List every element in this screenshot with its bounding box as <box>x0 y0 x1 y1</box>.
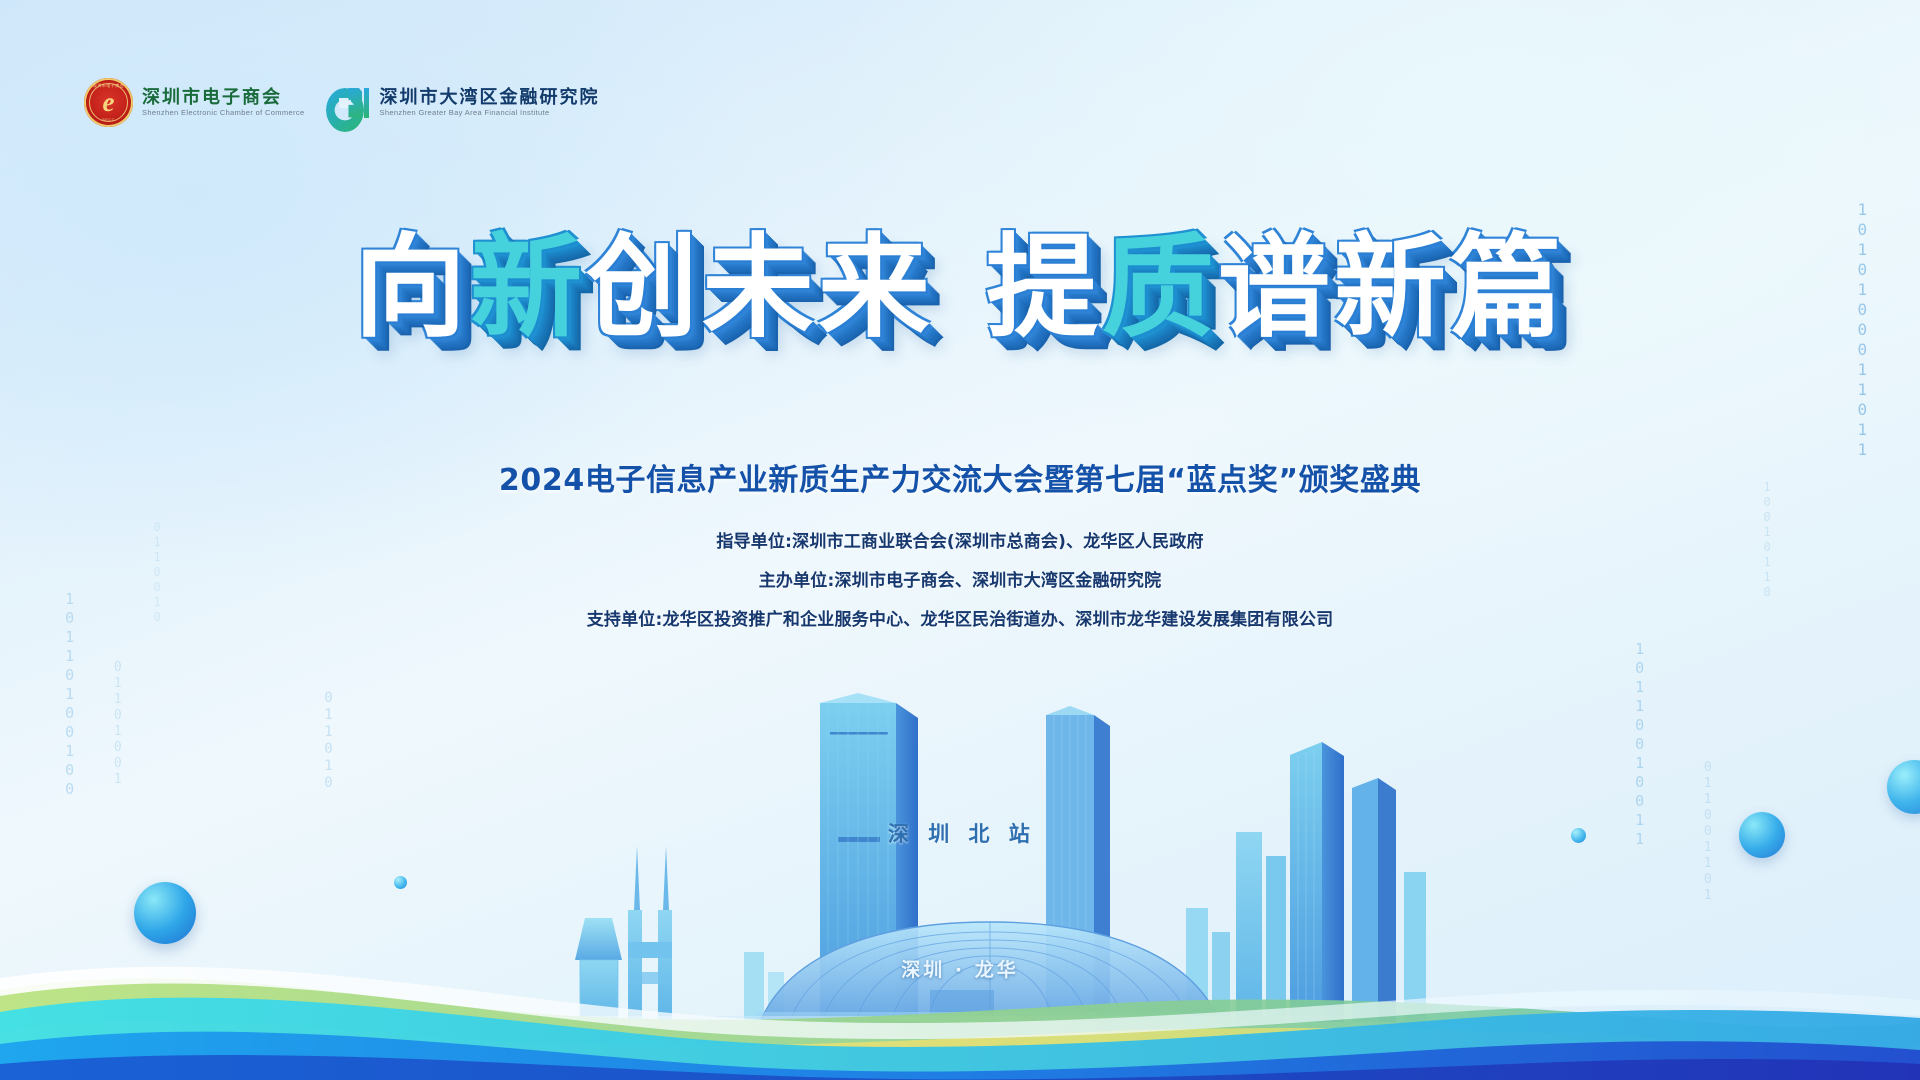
decor-sphere-small-left <box>394 876 407 889</box>
organizer-list: 指导单位:深圳市工商业联合会(深圳市总商会)、龙华区人民政府 主办单位:深圳市电… <box>0 534 1920 651</box>
headline-part-5: 质 <box>1102 232 1218 344</box>
organizer-line-guidance: 指导单位:深圳市工商业联合会(深圳市总商会)、龙华区人民政府 <box>0 534 1920 551</box>
headline-part-2: 新 <box>470 232 586 344</box>
seal-letter: e <box>84 88 133 115</box>
city-label: 深圳 · 龙华 <box>0 955 1920 982</box>
logo-bar: 深圳市电子商会 e SECC 深圳市电子商会 Shenzhen Electron… <box>84 78 599 127</box>
event-subtitle: 2024电子信息产业新质生产力交流大会暨第七届“蓝点奖”颁奖盛典 <box>0 455 1920 499</box>
headline-part-6: 谱新篇 <box>1218 232 1566 344</box>
station-label: 深 圳 北 站 <box>888 818 1037 848</box>
skyline-scene <box>0 660 1920 1080</box>
organizer-line-host: 主办单位:深圳市电子商会、深圳市大湾区金融研究院 <box>0 573 1920 590</box>
headline-part-3: 创未来 <box>586 232 934 344</box>
gbi-mark-icon <box>326 86 370 120</box>
gbi-letter-i <box>364 88 369 118</box>
gbi-name-en: Shenzhen Greater Bay Area Financial Inst… <box>379 109 599 117</box>
decor-sphere-right-mid <box>1739 812 1785 858</box>
chamber-logo-text: 深圳市电子商会 Shenzhen Electronic Chamber of C… <box>142 88 304 117</box>
headline-part-1: 向 <box>354 232 470 344</box>
skyline-svg <box>0 660 1920 1080</box>
decor-sphere-small-right <box>1571 828 1586 843</box>
organizer-line-support: 支持单位:龙华区投资推广和企业服务中心、龙华区民治街道办、深圳市龙华建设发展集团… <box>0 612 1920 629</box>
main-headline: 向新创未来提质谱新篇 <box>0 232 1920 344</box>
seal-bottom-text: SECC <box>84 117 133 122</box>
poster-canvas: 1010100011011 10110010011 011001101 1011… <box>0 0 1920 1080</box>
decor-sphere-large-left <box>134 882 196 944</box>
gbi-logo-text: 深圳市大湾区金融研究院 Shenzhen Greater Bay Area Fi… <box>379 88 599 117</box>
headline-part-4: 提 <box>986 232 1102 344</box>
gbi-name-cn: 深圳市大湾区金融研究院 <box>379 88 599 107</box>
chamber-seal-icon: 深圳市电子商会 e SECC <box>84 78 133 127</box>
logo-shenzhen-electronic-chamber: 深圳市电子商会 e SECC 深圳市电子商会 Shenzhen Electron… <box>84 78 304 127</box>
logo-gbi-institute: 深圳市大湾区金融研究院 Shenzhen Greater Bay Area Fi… <box>326 86 599 120</box>
skyline-left-group <box>575 846 672 1020</box>
chamber-name-en: Shenzhen Electronic Chamber of Commerce <box>142 109 304 117</box>
chamber-name-cn: 深圳市电子商会 <box>142 88 304 107</box>
